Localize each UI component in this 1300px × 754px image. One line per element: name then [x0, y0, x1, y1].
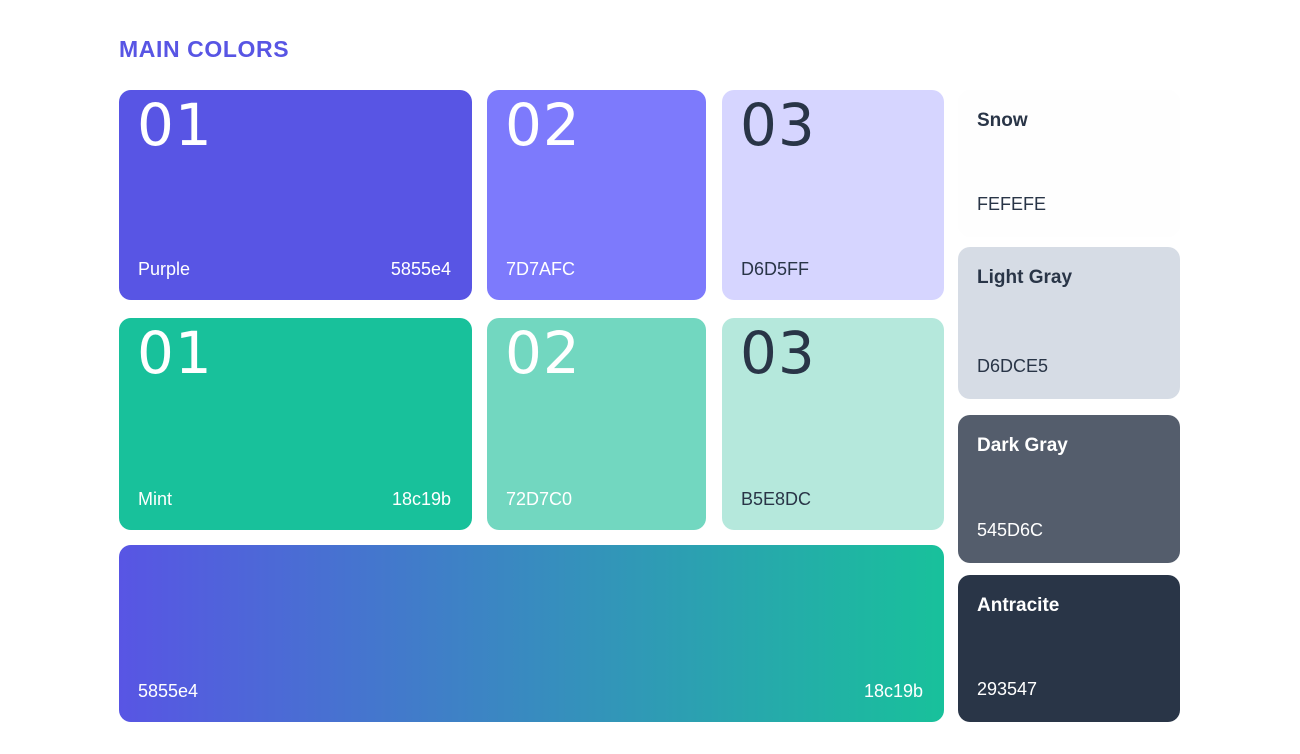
swatch-number: 01 [137, 96, 213, 154]
gradient-start-hex: 5855e4 [138, 681, 198, 702]
swatch-number: 02 [505, 96, 581, 154]
swatch-card-purple-02[interactable]: 02 7D7AFC [487, 90, 706, 300]
swatch-name: Antracite [977, 595, 1059, 617]
swatch-hex: 5855e4 [391, 259, 451, 280]
swatch-hex: FEFEFE [977, 194, 1046, 215]
swatch-hex: D6D5FF [741, 259, 809, 280]
page-title: MAIN COLORS [119, 36, 289, 63]
swatch-card-antracite[interactable]: Antracite 293547 [958, 575, 1180, 722]
color-palette-page: MAIN COLORS 01 Purple 5855e4 02 7D7AFC 0… [0, 0, 1300, 754]
swatch-hex: 545D6C [977, 520, 1043, 541]
swatch-name: Purple [138, 259, 190, 280]
swatch-number: 03 [740, 96, 816, 154]
gradient-swatch-bar[interactable]: 5855e4 18c19b [119, 545, 944, 722]
swatch-card-dark-gray[interactable]: Dark Gray 545D6C [958, 415, 1180, 563]
gradient-end-hex: 18c19b [864, 681, 923, 702]
swatch-hex: 72D7C0 [506, 489, 572, 510]
swatch-name: Snow [977, 110, 1028, 132]
swatch-name: Light Gray [977, 267, 1072, 289]
swatch-name: Dark Gray [977, 435, 1068, 457]
swatch-card-snow[interactable]: Snow FEFEFE [958, 90, 1180, 237]
swatch-card-mint-03[interactable]: 03 B5E8DC [722, 318, 944, 530]
swatch-card-purple-03[interactable]: 03 D6D5FF [722, 90, 944, 300]
swatch-card-purple-01[interactable]: 01 Purple 5855e4 [119, 90, 472, 300]
swatch-number: 03 [740, 324, 816, 382]
swatch-card-mint-01[interactable]: 01 Mint 18c19b [119, 318, 472, 530]
swatch-hex: 18c19b [392, 489, 451, 510]
swatch-card-light-gray[interactable]: Light Gray D6DCE5 [958, 247, 1180, 399]
swatch-hex: D6DCE5 [977, 356, 1048, 377]
swatch-hex: B5E8DC [741, 489, 811, 510]
swatch-number: 01 [137, 324, 213, 382]
swatch-hex: 293547 [977, 679, 1037, 700]
swatch-number: 02 [505, 324, 581, 382]
swatch-name: Mint [138, 489, 172, 510]
swatch-hex: 7D7AFC [506, 259, 575, 280]
swatch-card-mint-02[interactable]: 02 72D7C0 [487, 318, 706, 530]
